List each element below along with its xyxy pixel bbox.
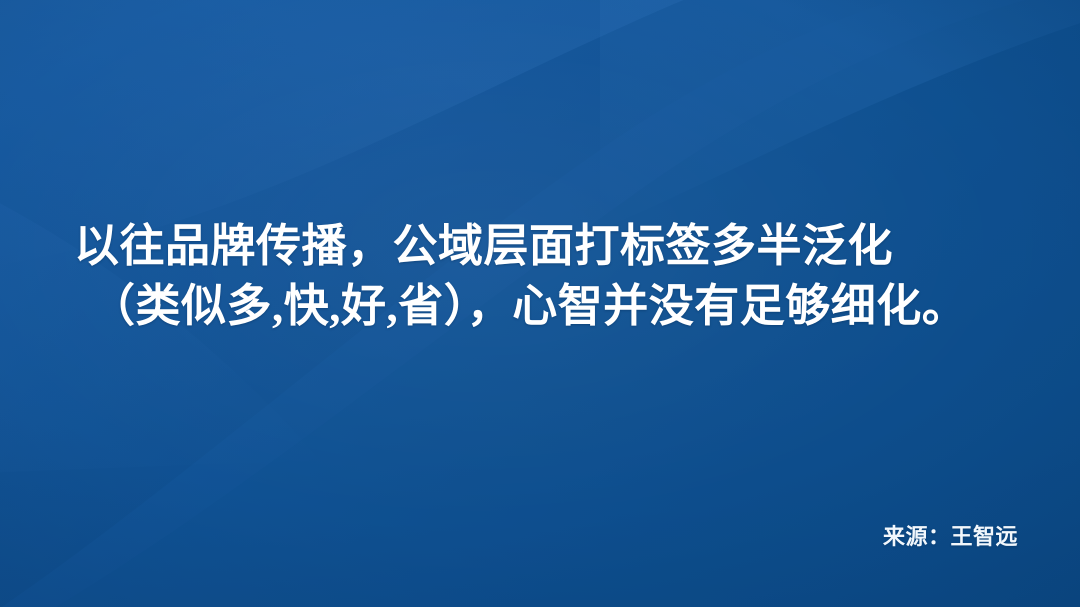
headline-line-1: 以往品牌传播，公域层面打标签多半泛化 <box>74 221 893 271</box>
source-attribution: 来源：王智远 <box>883 519 1018 551</box>
headline-text: 以往品牌传播，公域层面打标签多半泛化 （类似多,快,好,省），心智并没有足够细化… <box>74 216 1004 336</box>
headline-line-2: （类似多,快,好,省），心智并没有足够细化。 <box>74 276 1004 336</box>
slide-canvas: 以往品牌传播，公域层面打标签多半泛化 （类似多,快,好,省），心智并没有足够细化… <box>0 0 1080 607</box>
